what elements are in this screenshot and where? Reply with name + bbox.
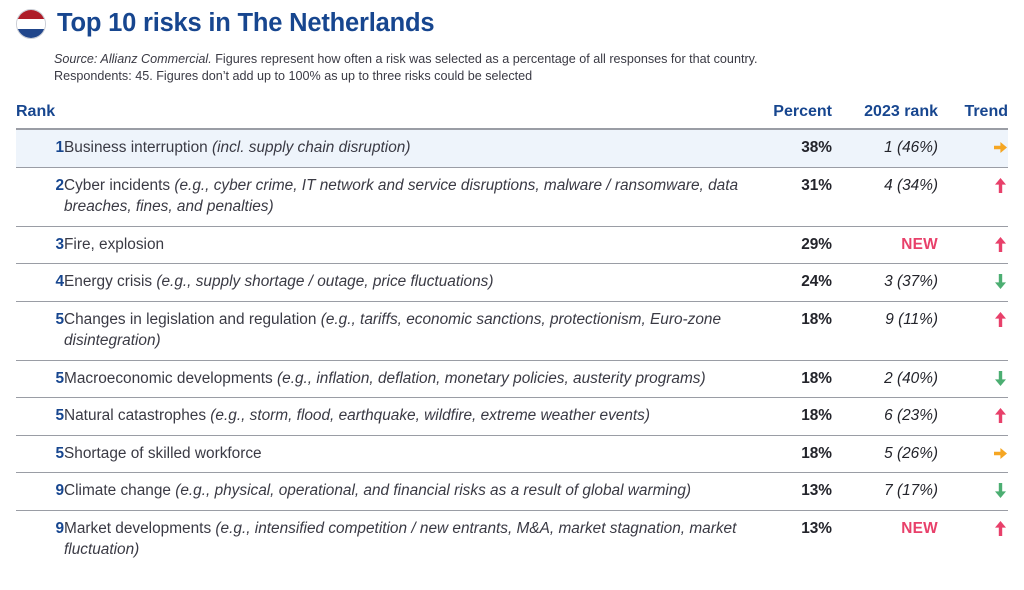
table-row[interactable]: 2Cyber incidents (e.g., cyber crime, IT …: [16, 167, 1008, 226]
arrow-up-icon: [993, 177, 1008, 194]
cell-trend: [938, 301, 1008, 360]
cell-rank: 5: [16, 301, 64, 360]
column-header-percent[interactable]: Percent: [754, 103, 832, 129]
cell-percent: 31%: [754, 167, 832, 226]
table-header: Rank Percent 2023 rank Trend: [16, 103, 1008, 129]
arrow-down-icon: [993, 370, 1008, 387]
cell-percent: 18%: [754, 398, 832, 436]
risk-name: Cyber incidents: [64, 177, 174, 194]
table-row[interactable]: 3Fire, explosion29%NEW: [16, 226, 1008, 264]
cell-risk: Changes in legislation and regulation (e…: [64, 301, 754, 360]
cell-percent: 38%: [754, 129, 832, 167]
risk-report-page: Top 10 risks in The Netherlands Source: …: [0, 0, 1024, 590]
risk-name: Business interruption: [64, 139, 212, 156]
table-row[interactable]: 5Macroeconomic developments (e.g., infla…: [16, 360, 1008, 398]
table-row[interactable]: 5Shortage of skilled workforce18%5 (26%): [16, 435, 1008, 473]
cell-2023-rank: 3 (37%): [832, 264, 938, 302]
cell-percent: 18%: [754, 435, 832, 473]
column-header-rank[interactable]: Rank: [16, 103, 64, 129]
cell-trend: [938, 435, 1008, 473]
risk-name: Market developments: [64, 520, 215, 537]
cell-trend: [938, 264, 1008, 302]
cell-2023-rank: 1 (46%): [832, 129, 938, 167]
column-header-2023-rank[interactable]: 2023 rank: [832, 103, 938, 129]
cell-trend: [938, 473, 1008, 511]
cell-trend: [938, 226, 1008, 264]
cell-2023-rank: 4 (34%): [832, 167, 938, 226]
arrow-up-icon: [993, 407, 1008, 424]
arrow-down-icon: [993, 482, 1008, 499]
cell-percent: 24%: [754, 264, 832, 302]
cell-rank: 9: [16, 510, 64, 569]
cell-percent: 13%: [754, 510, 832, 569]
cell-rank: 5: [16, 435, 64, 473]
source-note: Source: Allianz Commercial. Figures repr…: [54, 51, 1024, 85]
table-body: 1Business interruption (incl. supply cha…: [16, 129, 1008, 569]
cell-rank: 4: [16, 264, 64, 302]
cell-percent: 29%: [754, 226, 832, 264]
table-row[interactable]: 5Changes in legislation and regulation (…: [16, 301, 1008, 360]
cell-risk: Cyber incidents (e.g., cyber crime, IT n…: [64, 167, 754, 226]
cell-rank: 5: [16, 398, 64, 436]
cell-2023-rank-new-badge: NEW: [832, 510, 938, 569]
cell-trend: [938, 167, 1008, 226]
cell-2023-rank: 7 (17%): [832, 473, 938, 511]
cell-risk: Macroeconomic developments (e.g., inflat…: [64, 360, 754, 398]
arrow-right-icon: [993, 139, 1008, 156]
risk-name: Shortage of skilled workforce: [64, 445, 262, 462]
arrow-up-icon: [993, 311, 1008, 328]
cell-risk: Shortage of skilled workforce: [64, 435, 754, 473]
risk-detail: (e.g., storm, flood, earthquake, wildfir…: [210, 407, 650, 424]
cell-percent: 18%: [754, 301, 832, 360]
cell-trend: [938, 398, 1008, 436]
table-row[interactable]: 9Market developments (e.g., intensified …: [16, 510, 1008, 569]
source-line-1-rest: Figures represent how often a risk was s…: [212, 52, 758, 66]
risk-detail: (e.g., physical, operational, and financ…: [175, 482, 691, 499]
table-row[interactable]: 5Natural catastrophes (e.g., storm, floo…: [16, 398, 1008, 436]
netherlands-flag-icon: [16, 9, 46, 39]
table-row[interactable]: 4Energy crisis (e.g., supply shortage / …: [16, 264, 1008, 302]
column-header-trend[interactable]: Trend: [938, 103, 1008, 129]
risk-name: Fire, explosion: [64, 236, 164, 253]
cell-trend: [938, 360, 1008, 398]
risk-detail: (e.g., inflation, deflation, monetary po…: [277, 370, 706, 387]
table-row[interactable]: 9Climate change (e.g., physical, operati…: [16, 473, 1008, 511]
cell-rank: 5: [16, 360, 64, 398]
risk-name: Climate change: [64, 482, 175, 499]
top-risks-table: Rank Percent 2023 rank Trend 1Business i…: [16, 103, 1008, 569]
cell-trend: [938, 510, 1008, 569]
cell-risk: Energy crisis (e.g., supply shortage / o…: [64, 264, 754, 302]
risk-name: Changes in legislation and regulation: [64, 311, 321, 328]
cell-2023-rank: 5 (26%): [832, 435, 938, 473]
cell-risk: Climate change (e.g., physical, operatio…: [64, 473, 754, 511]
arrow-up-icon: [993, 236, 1008, 253]
arrow-right-icon: [993, 445, 1008, 462]
cell-percent: 18%: [754, 360, 832, 398]
cell-2023-rank: 9 (11%): [832, 301, 938, 360]
page-title: Top 10 risks in The Netherlands: [57, 11, 434, 37]
risk-name: Energy crisis: [64, 273, 156, 290]
risk-detail: (e.g., supply shortage / outage, price f…: [156, 273, 493, 290]
cell-2023-rank: 6 (23%): [832, 398, 938, 436]
cell-rank: 3: [16, 226, 64, 264]
column-header-risk: [64, 103, 754, 129]
arrow-down-icon: [993, 273, 1008, 290]
cell-2023-rank: 2 (40%): [832, 360, 938, 398]
cell-risk: Business interruption (incl. supply chai…: [64, 129, 754, 167]
cell-2023-rank-new-badge: NEW: [832, 226, 938, 264]
cell-rank: 2: [16, 167, 64, 226]
report-header: Top 10 risks in The Netherlands Source: …: [16, 0, 1024, 85]
title-row: Top 10 risks in The Netherlands: [16, 7, 1024, 41]
cell-risk: Natural catastrophes (e.g., storm, flood…: [64, 398, 754, 436]
cell-rank: 9: [16, 473, 64, 511]
source-line-1: Source: Allianz Commercial. Figures repr…: [54, 51, 1024, 68]
table-row[interactable]: 1Business interruption (incl. supply cha…: [16, 129, 1008, 167]
risk-name: Natural catastrophes: [64, 407, 210, 424]
source-line-2: Respondents: 45. Figures don’t add up to…: [54, 68, 1024, 85]
risk-detail: (incl. supply chain disruption): [212, 139, 410, 156]
source-attribution: Source: Allianz Commercial.: [54, 52, 212, 66]
risk-name: Macroeconomic developments: [64, 370, 277, 387]
cell-risk: Market developments (e.g., intensified c…: [64, 510, 754, 569]
table-header-row: Rank Percent 2023 rank Trend: [16, 103, 1008, 129]
cell-trend: [938, 129, 1008, 167]
cell-risk: Fire, explosion: [64, 226, 754, 264]
cell-rank: 1: [16, 129, 64, 167]
cell-percent: 13%: [754, 473, 832, 511]
arrow-up-icon: [993, 520, 1008, 537]
